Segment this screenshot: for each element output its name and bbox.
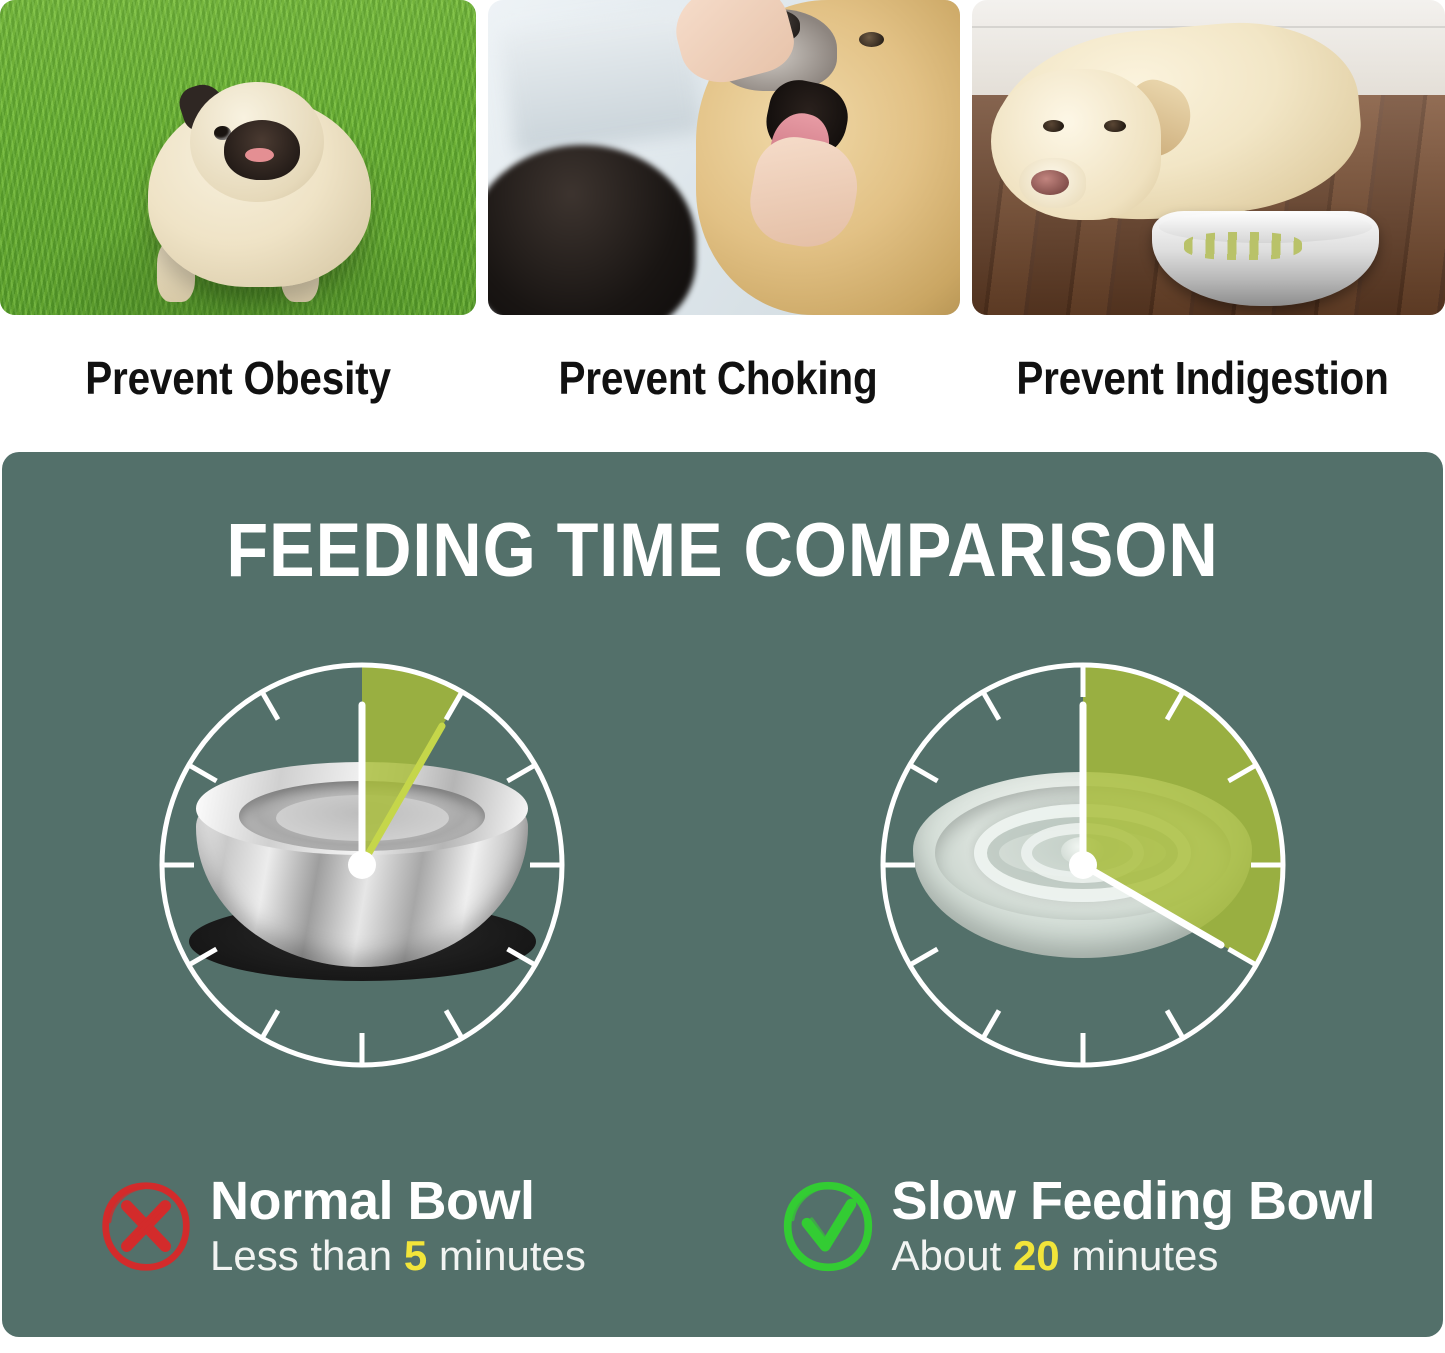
comparison-label-slow-feeding-bowl: Slow Feeding Bowl About 20 minutes xyxy=(762,1167,1444,1287)
label-sub-slow-feeding-bowl: About 20 minutes xyxy=(892,1232,1376,1280)
benefit-photo-card-obesity xyxy=(0,0,476,315)
label-sub-suffix: minutes xyxy=(427,1232,586,1279)
label-sub-normal-bowl: Less than 5 minutes xyxy=(210,1232,586,1280)
infographic-root: Prevent Obesity Prevent Choking Prevent … xyxy=(0,0,1445,1353)
clock-dial-normal-bowl xyxy=(147,650,577,1080)
clock-face-svg-slow-feeding-bowl xyxy=(868,650,1298,1080)
bowl-food xyxy=(1184,232,1302,260)
label-sub-suffix: minutes xyxy=(1060,1232,1219,1279)
benefit-caption-indigestion: Prevent Indigestion xyxy=(989,322,1416,434)
clock-row xyxy=(2,640,1443,1090)
label-sub-value: 5 xyxy=(404,1232,427,1279)
benefit-caption-obesity: Prevent Obesity xyxy=(29,322,448,434)
labrador-eye-right xyxy=(1104,120,1125,133)
clock-face-svg-normal-bowl xyxy=(147,650,577,1080)
benefit-caption-choking: Prevent Choking xyxy=(505,322,931,434)
background-blur-shape xyxy=(499,6,703,157)
label-text-normal-bowl: Normal Bowl Less than 5 minutes xyxy=(210,1174,586,1280)
clock-center-hub xyxy=(1069,851,1097,879)
clock-cell-normal-bowl xyxy=(2,640,723,1090)
sad-labrador-beside-bowl-photo xyxy=(972,0,1445,315)
label-sub-prefix: Less than xyxy=(210,1232,404,1279)
benefit-caption-row: Prevent Obesity Prevent Choking Prevent … xyxy=(0,322,1445,434)
label-sub-prefix: About xyxy=(892,1232,1013,1279)
comparison-panel: FEEDING TIME COMPARISON xyxy=(2,452,1443,1337)
benefit-photo-card-choking xyxy=(488,0,960,315)
label-title-normal-bowl: Normal Bowl xyxy=(210,1174,586,1230)
label-sub-value: 20 xyxy=(1013,1232,1060,1279)
pug-tongue xyxy=(245,148,274,162)
hand-opening-dog-mouth-photo xyxy=(488,0,960,315)
clock-center-hub xyxy=(348,851,376,879)
comparison-label-row: Normal Bowl Less than 5 minutes Slow Fee… xyxy=(2,1167,1443,1287)
person-head-foreground xyxy=(488,145,696,315)
comparison-label-normal-bowl: Normal Bowl Less than 5 minutes xyxy=(2,1167,762,1287)
clock-dial-slow-feeding-bowl xyxy=(868,650,1298,1080)
label-text-slow-feeding-bowl: Slow Feeding Bowl About 20 minutes xyxy=(892,1174,1376,1280)
overweight-pug-on-grass-photo xyxy=(0,0,476,315)
benefit-photo-strip xyxy=(0,0,1445,315)
benefit-photo-card-indigestion xyxy=(972,0,1445,315)
clock-cell-slow-feeding-bowl xyxy=(723,640,1444,1090)
check-mark-icon xyxy=(780,1179,876,1275)
label-title-slow-feeding-bowl: Slow Feeding Bowl xyxy=(892,1174,1376,1230)
x-mark-icon xyxy=(98,1179,194,1275)
panel-title: FEEDING TIME COMPARISON xyxy=(74,507,1371,594)
